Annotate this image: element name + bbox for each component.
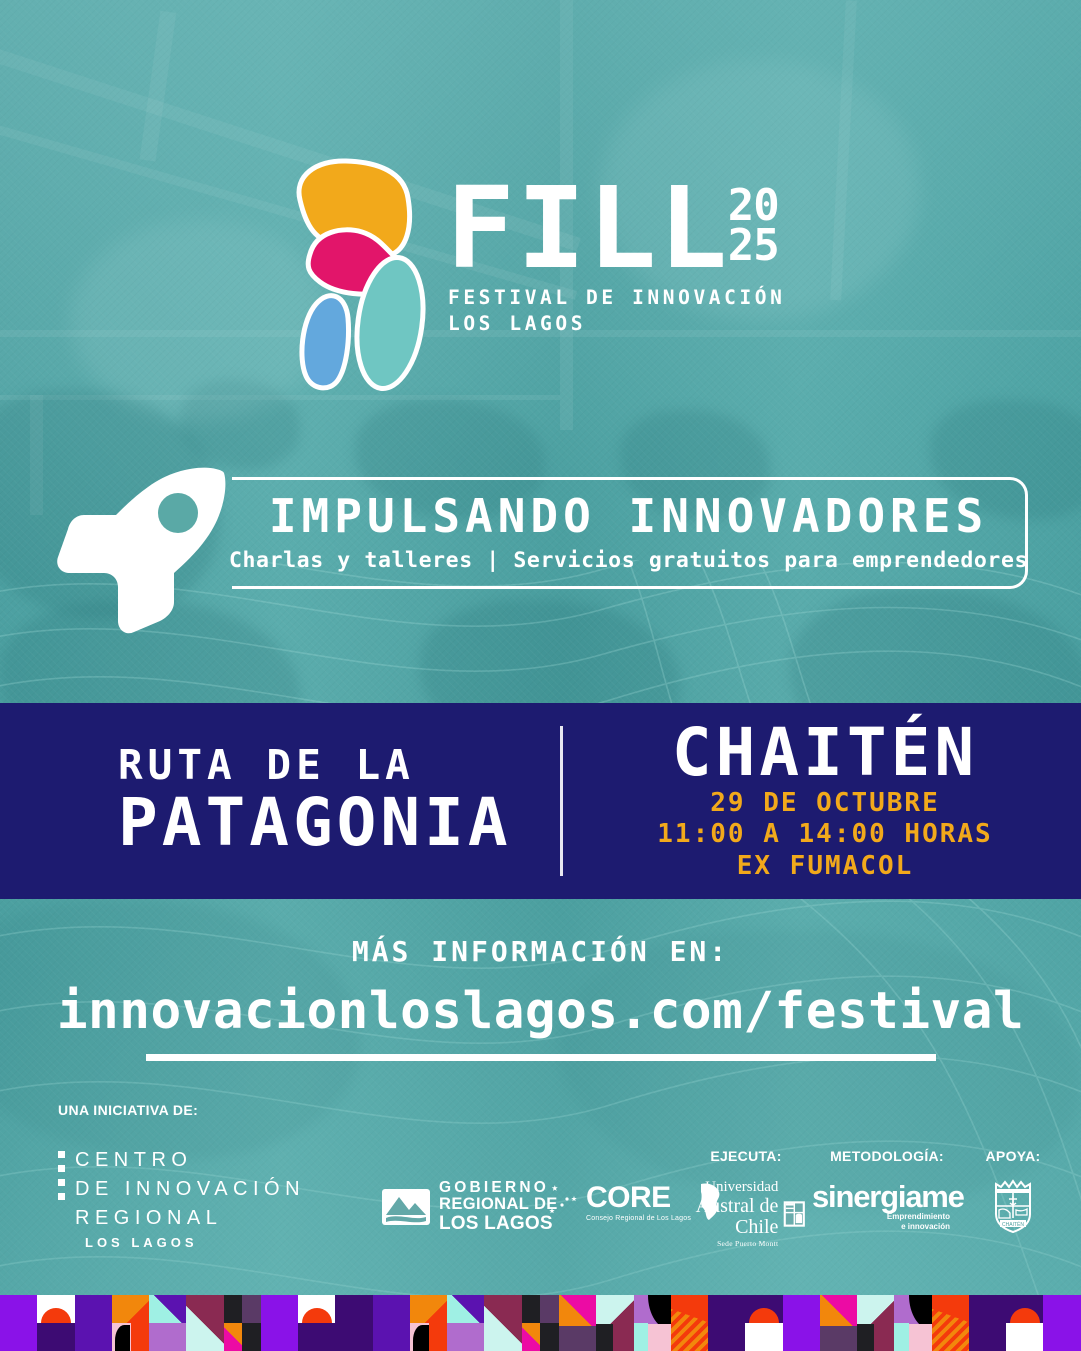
pattern-cell [149,1295,186,1351]
pattern-cell [112,1295,149,1351]
pattern-cell [186,1295,223,1351]
chaiten-crest-text: CHAITÉN [1002,1221,1024,1228]
pattern-cell [745,1295,782,1351]
tagline-subline: Charlas y talleres | Servicios gratuitos… [229,548,1028,573]
pattern-cell [596,1295,633,1351]
fill-year: 20 25 [728,186,779,267]
pattern-cell [932,1295,969,1351]
initiative-label: UNA INICIATIVA DE: [58,1102,388,1118]
pattern-cell [522,1295,559,1351]
pattern-cell [1043,1295,1080,1351]
apoya-label: APOYA: [968,1148,1058,1164]
ejecuta-label: EJECUTA: [686,1148,806,1164]
pattern-cell [335,1295,372,1351]
core-text-group: CORE Consejo Regional de Los Lagos [586,1183,691,1222]
cir-line2: DE INNOVACIÓN [75,1175,305,1204]
pattern-cell [820,1295,857,1351]
city-column: CHAITÉN 29 DE OCTUBRE 11:00 A 14:00 HORA… [563,719,1081,883]
uach-line1: Universidad [686,1180,778,1196]
cir-lines: CENTRO DE INNOVACIÓN REGIONAL [75,1146,305,1233]
uach-text: Universidad Austral de Chile Sede Puerto… [686,1180,778,1248]
uach-line3: Sede Puerto Montt [686,1240,778,1248]
logo-blobs-icon [286,158,436,393]
fill-logo: FILL 20 25 FESTIVAL DE INNOVACIÓN LOS LA… [286,158,806,393]
initiative-block: UNA INICIATIVA DE: CENTRO DE INNOVACIÓN … [58,1102,388,1250]
pattern-cell [484,1295,521,1351]
pattern-cell [969,1295,1006,1351]
pattern-cell [634,1295,671,1351]
gobierno-regional-logo: GOBIERNO REGIONAL DE LOS LAGOS [382,1180,558,1234]
core-stars-icon [548,1185,582,1219]
pattern-cell [75,1295,112,1351]
metodologia-label: METODOLOGÍA: [812,1148,962,1164]
metodologia-block: METODOLOGÍA: sinergiame Emprendimiento e… [812,1148,962,1232]
route-line1: RUTA DE LA [118,745,560,787]
apoya-block: APOYA: CHAITÉN [968,1148,1058,1234]
pattern-cell [37,1295,74,1351]
info-block: MÁS INFORMACIÓN EN: innovacionloslagos.c… [0,935,1081,1061]
info-underline [146,1054,936,1061]
fill-wordmark: FILL [446,180,729,279]
bottom-pattern-strip [0,1295,1081,1351]
event-time: 11:00 A 14:00 HORAS [657,819,992,851]
cir-line3: REGIONAL [75,1204,305,1233]
fill-subtitle-line2: LOS LAGOS [448,311,806,337]
tagline-headline: IMPULSANDO INNOVADORES [269,493,988,539]
gore-line2: REGIONAL DE [439,1196,558,1213]
pattern-cell [298,1295,335,1351]
tagline-band: IMPULSANDO INNOVADORES Charlas y tallere… [0,455,1081,645]
sinergiame-sub-line2: e innovación [812,1222,950,1232]
uach-line2: Austral de Chile [686,1196,778,1238]
pattern-cell [1006,1295,1043,1351]
sinergiame-name: sinergiame [812,1182,962,1211]
gore-line3: LOS LAGOS [439,1214,558,1234]
event-venue: EX FUMACOL [737,851,914,883]
pattern-cell [894,1295,931,1351]
fill-year-bottom: 25 [728,226,779,266]
uach-crest-icon [783,1195,806,1233]
pattern-cell [373,1295,410,1351]
pattern-cell [559,1295,596,1351]
pattern-cell [857,1295,894,1351]
chaiten-crest-logo: CHAITÉN [968,1176,1058,1234]
pattern-cell [447,1295,484,1351]
event-date: 29 DE OCTUBRE [710,788,940,820]
ejecuta-block: EJECUTA: Universidad Austral de Chile Se… [686,1148,806,1248]
core-subtitle: Consejo Regional de Los Lagos [586,1215,691,1222]
cir-line4: LOS LAGOS [85,1235,388,1250]
footer-partners: UNA INICIATIVA DE: CENTRO DE INNOVACIÓN … [0,1090,1081,1295]
chaiten-crest-icon: CHAITÉN [990,1176,1036,1234]
route-column: RUTA DE LA PATAGONIA [0,745,560,856]
pattern-cell [261,1295,298,1351]
sinergiame-subtitle: Emprendimiento e innovación [812,1212,962,1232]
gore-line1: GOBIERNO [439,1180,558,1196]
uach-logo: Universidad Austral de Chile Sede Puerto… [686,1180,806,1248]
event-band: RUTA DE LA PATAGONIA CHAITÉN 29 DE OCTUB… [0,703,1081,899]
gore-mountain-icon [382,1187,430,1227]
tagline-box: IMPULSANDO INNOVADORES Charlas y tallere… [232,477,1028,589]
cir-line1: CENTRO [75,1146,305,1175]
route-line2: PATAGONIA [118,789,560,856]
cir-squares-icon [58,1151,65,1200]
info-label: MÁS INFORMACIÓN EN: [0,935,1081,968]
info-url[interactable]: innovacionloslagos.com/festival [0,982,1081,1041]
band-divider [560,726,563,876]
gore-text: GOBIERNO REGIONAL DE LOS LAGOS [439,1180,558,1234]
core-name: CORE [586,1183,691,1213]
city-name: CHAITÉN [672,719,978,788]
pattern-cell [410,1295,447,1351]
fill-wordmark-group: FILL 20 25 FESTIVAL DE INNOVACIÓN LOS LA… [446,180,806,337]
pattern-cell [0,1295,37,1351]
rocket-icon [56,463,236,638]
pattern-cell [671,1295,708,1351]
pattern-cell [708,1295,745,1351]
pattern-cell [783,1295,820,1351]
pattern-cell [224,1295,261,1351]
poster-root: FILL 20 25 FESTIVAL DE INNOVACIÓN LOS LA… [0,0,1081,1351]
cir-logo: CENTRO DE INNOVACIÓN REGIONAL [58,1146,388,1233]
